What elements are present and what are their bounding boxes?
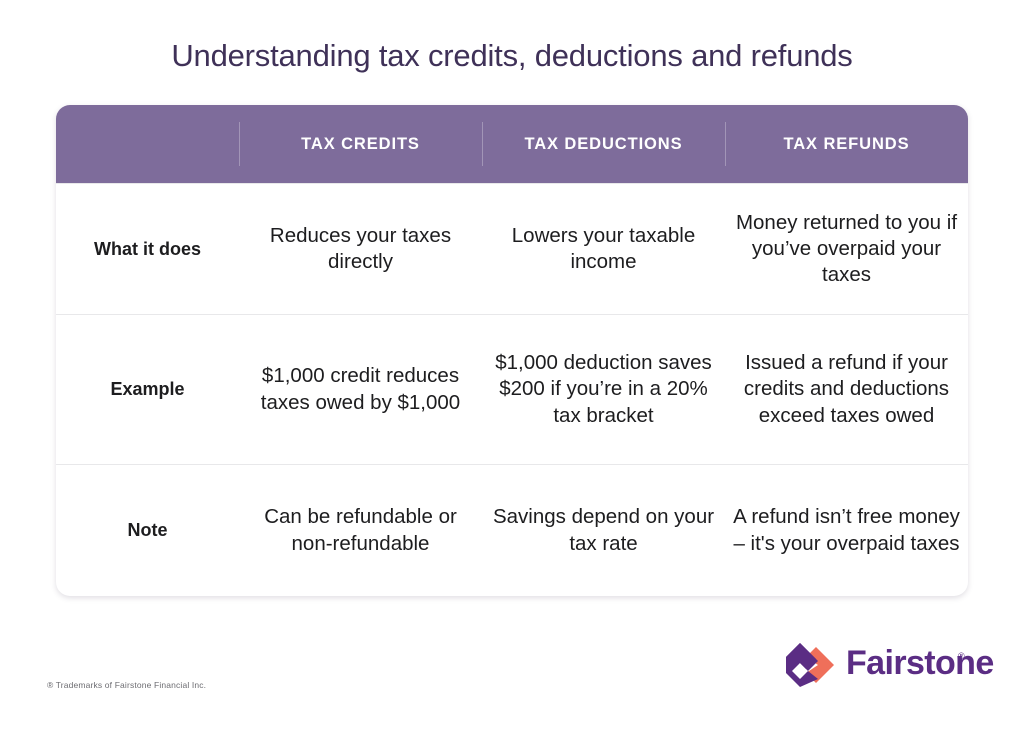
table-header-cell-blank [56,105,239,183]
fairstone-diamond-mark [786,643,842,687]
table-row: Note Can be refundable or non-refundable… [56,464,968,596]
table-header-cell-tax-deductions: TAX DEDUCTIONS [482,105,725,183]
header-divider-1 [239,122,240,166]
row-label-note: Note [56,520,239,541]
cell-note-credits: Can be refundable or non-refundable [239,504,482,556]
table-header-cell-tax-refunds: TAX REFUNDS [725,105,968,183]
cell-what-it-does-credits: Reduces your taxes directly [239,223,482,275]
trademark-note: ® Trademarks of Fairstone Financial Inc. [47,680,206,690]
cell-what-it-does-deductions: Lowers your taxable income [482,223,725,275]
fairstone-logo: Fairstone ® [786,641,968,691]
fairstone-wordmark: Fairstone [846,644,994,683]
table-row: Example $1,000 credit reduces taxes owed… [56,314,968,464]
registered-trademark-icon: ® [958,651,965,661]
cell-example-credits: $1,000 credit reduces taxes owed by $1,0… [239,363,482,415]
row-label-what-it-does: What it does [56,239,239,260]
cell-note-refunds: A refund isn’t free money – it's your ov… [725,504,968,556]
cell-note-deductions: Savings depend on your tax rate [482,504,725,556]
header-divider-2 [482,122,483,166]
cell-example-deductions: $1,000 deduction saves $200 if you’re in… [482,350,725,428]
page-title: Understanding tax credits, deductions an… [0,38,1024,74]
table-row: What it does Reduces your taxes directly… [56,183,968,314]
cell-example-refunds: Issued a refund if your credits and dedu… [725,350,968,428]
row-label-example: Example [56,379,239,400]
cell-what-it-does-refunds: Money returned to you if you’ve overpaid… [725,210,968,288]
table-header-row: TAX CREDITS TAX DEDUCTIONS TAX REFUNDS [56,105,968,183]
comparison-table-card: TAX CREDITS TAX DEDUCTIONS TAX REFUNDS W… [56,105,968,596]
header-divider-3 [725,122,726,166]
table-header-cell-tax-credits: TAX CREDITS [239,105,482,183]
